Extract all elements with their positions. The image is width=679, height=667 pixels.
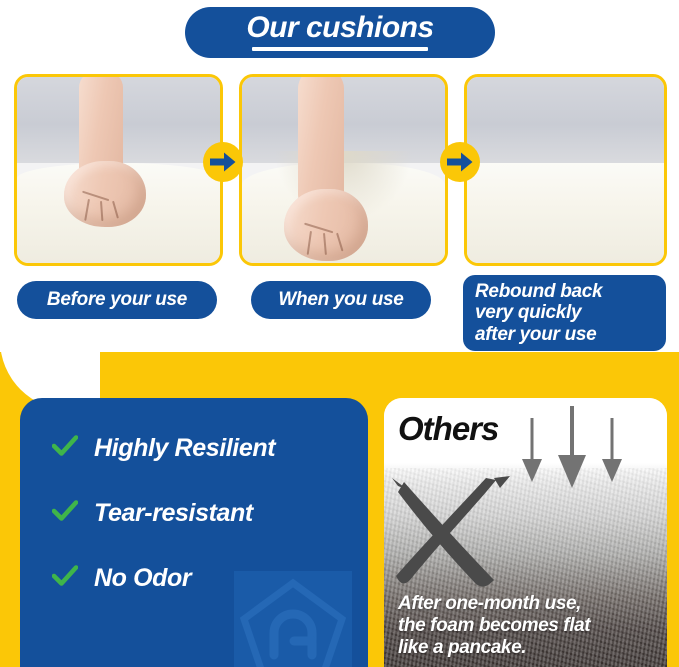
check-icon	[52, 565, 78, 592]
features-card: Highly Resilient Tear-resistant No Odor	[20, 398, 368, 667]
others-caption: After one-month use, the foam becomes fl…	[398, 593, 590, 659]
arrow-right-icon	[203, 142, 243, 182]
x-mark-icon	[390, 476, 522, 597]
page-title-inner: Our cushions	[246, 13, 433, 53]
check-icon	[52, 500, 78, 527]
knuckle-line	[82, 191, 109, 202]
panel-label-before-text: Before your use	[47, 289, 187, 311]
knuckle-line	[336, 233, 343, 252]
arrow-right-icon	[440, 142, 480, 182]
demo-panel-pressing	[239, 74, 448, 266]
check-icon	[52, 435, 78, 462]
page-title: Our cushions	[246, 13, 433, 43]
knuckle-line	[323, 233, 327, 255]
feature-item: Highly Resilient	[52, 434, 275, 463]
panel-background-wall	[467, 77, 664, 163]
knuckle-line	[304, 223, 333, 234]
feature-label: No Odor	[94, 564, 191, 593]
knuckle-line	[100, 201, 103, 221]
feature-item: No Odor	[52, 564, 275, 593]
panel-label-before: Before your use	[17, 281, 217, 319]
panel-label-pressing: When you use	[251, 281, 431, 319]
feature-label: Highly Resilient	[94, 434, 275, 463]
knuckle-line	[84, 199, 90, 221]
panel-label-rebound-line-3: after your use	[475, 324, 666, 345]
panel-label-rebound-line-1: Rebound back	[475, 281, 666, 302]
panel-label-rebound-line-2: very quickly	[475, 302, 666, 323]
panel-label-rebound: Rebound back very quickly after your use	[463, 275, 666, 351]
down-arrows-group	[514, 404, 634, 495]
others-caption-line-2: the foam becomes flat	[398, 615, 590, 637]
others-title: Others	[398, 410, 498, 448]
knuckle-line	[307, 231, 312, 255]
knuckle-line	[112, 201, 119, 219]
feature-label: Tear-resistant	[94, 499, 253, 528]
title-underline	[252, 47, 427, 51]
page-title-pill: Our cushions	[185, 7, 495, 58]
features-list: Highly Resilient Tear-resistant No Odor	[52, 434, 275, 593]
fist-shape	[64, 161, 146, 227]
others-caption-line-1: After one-month use,	[398, 593, 590, 615]
others-comparison-card: Others	[384, 398, 667, 667]
panel-foam-surface	[467, 163, 664, 263]
infographic-page: Our cushions	[0, 0, 679, 667]
demo-panel-before	[14, 74, 223, 266]
fist-shape	[284, 189, 368, 261]
demo-panel-rebound	[464, 74, 667, 266]
others-caption-line-3: like a pancake.	[398, 637, 590, 659]
feature-item: Tear-resistant	[52, 499, 275, 528]
panel-label-pressing-text: When you use	[278, 289, 403, 311]
